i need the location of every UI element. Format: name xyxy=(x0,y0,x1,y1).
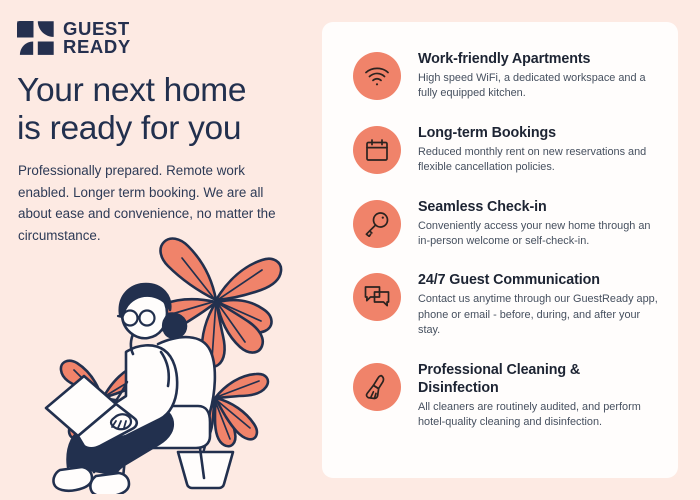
feature-text-block: Seamless Check-in Conveniently access yo… xyxy=(418,198,660,250)
feature-description: Reduced monthly rent on new reservations… xyxy=(418,145,660,176)
promo-page: GUEST READY Your next home is ready for … xyxy=(0,0,700,500)
feature-text-block: 24/7 Guest Communication Contact us anyt… xyxy=(418,271,660,338)
feature-title: Seamless Check-in xyxy=(418,199,660,217)
feature-description: All cleaners are routinely audited, and … xyxy=(418,400,660,431)
wifi-icon xyxy=(353,52,401,100)
feature-description: High speed WiFi, a dedicated workspace a… xyxy=(418,71,660,102)
logo-word-ready: READY xyxy=(63,38,131,56)
headline-line-2: is ready for you xyxy=(17,110,307,148)
headline-line-1: Your next home xyxy=(17,72,307,110)
key-icon xyxy=(353,200,401,248)
guestready-quadrant-logo-icon xyxy=(17,21,54,55)
feature-title: Long-term Bookings xyxy=(418,125,660,143)
feature-title: 24/7 Guest Communication xyxy=(418,272,660,290)
feature-item-professional-cleaning[interactable]: Professional Cleaning & Disinfection All… xyxy=(353,361,660,431)
plant-pot xyxy=(178,452,233,488)
chat-bubbles-icon xyxy=(353,273,401,321)
woman-on-chair-with-laptop-illustration xyxy=(30,222,315,494)
feature-text-block: Work-friendly Apartments High speed WiFi… xyxy=(418,50,660,102)
broom-icon xyxy=(353,363,401,411)
features-card: Work-friendly Apartments High speed WiFi… xyxy=(322,22,678,478)
hero-column: GUEST READY Your next home is ready for … xyxy=(0,0,310,500)
feature-item-work-friendly-apartments[interactable]: Work-friendly Apartments High speed WiFi… xyxy=(353,50,660,102)
feature-item-seamless-check-in[interactable]: Seamless Check-in Conveniently access yo… xyxy=(353,198,660,250)
feature-item-long-term-bookings[interactable]: Long-term Bookings Reduced monthly rent … xyxy=(353,124,660,176)
feature-title: Professional Cleaning & Disinfection xyxy=(418,362,660,398)
logo-wordmark: GUEST READY xyxy=(63,20,131,56)
feature-description: Conveniently access your new home throug… xyxy=(418,219,660,250)
feature-description: Contact us anytime through our GuestRead… xyxy=(418,292,660,338)
feature-item-guest-communication[interactable]: 24/7 Guest Communication Contact us anyt… xyxy=(353,271,660,338)
page-title: Your next home is ready for you xyxy=(17,72,307,148)
calendar-icon xyxy=(353,126,401,174)
guestready-logo[interactable]: GUEST READY xyxy=(17,20,131,56)
feature-text-block: Long-term Bookings Reduced monthly rent … xyxy=(418,124,660,176)
feature-title: Work-friendly Apartments xyxy=(418,51,660,69)
feature-text-block: Professional Cleaning & Disinfection All… xyxy=(418,361,660,431)
